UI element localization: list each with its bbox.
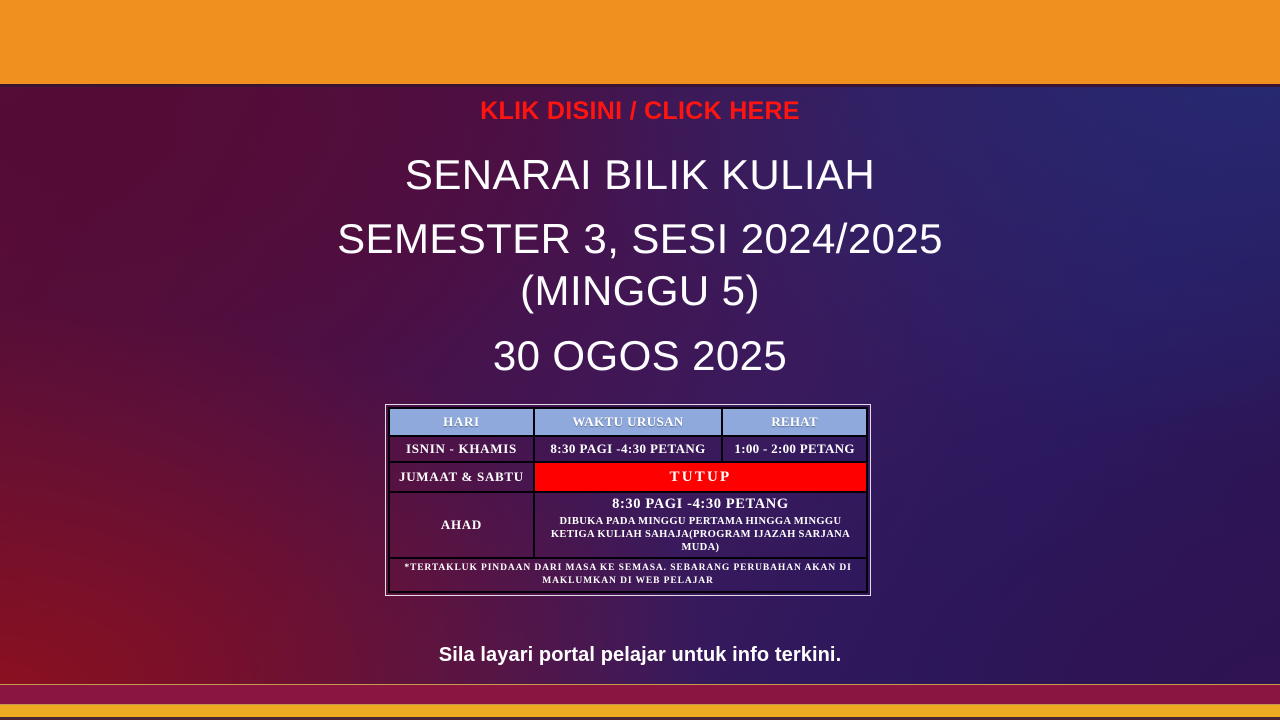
table-row: AHAD 8:30 PAGI -4:30 PETANG DIBUKA PADA … xyxy=(389,492,867,558)
heading-line-1: SENARAI BILIK KULIAH xyxy=(160,147,1120,203)
table-header-row: HARI WAKTU URUSAN REHAT xyxy=(389,408,867,436)
table-row: ISNIN - KHAMIS 8:30 PAGI -4:30 PETANG 1:… xyxy=(389,436,867,462)
sunday-hours: 8:30 PAGI -4:30 PETANG xyxy=(537,496,864,513)
column-header-hari: HARI xyxy=(389,408,534,436)
cell-hours-sunday: 8:30 PAGI -4:30 PETANG DIBUKA PADA MINGG… xyxy=(534,492,867,558)
slide-canvas: UTM UNIVERSITI TEKNOLOGI MALAYSIA School… xyxy=(0,0,1280,720)
sunday-note: DIBUKA PADA MINGGU PERTAMA HINGGA MINGGU… xyxy=(537,515,864,554)
header-underline xyxy=(0,84,1280,87)
heading-line-4: 30 OGOS 2025 xyxy=(160,329,1120,383)
bottom-note: Sila layari portal pelajar untuk info te… xyxy=(0,644,1280,667)
schedule-table: HARI WAKTU URUSAN REHAT ISNIN - KHAMIS 8… xyxy=(388,407,868,593)
footer-stripe-maroon xyxy=(0,684,1280,705)
heading-line-2: SEMESTER 3, SESI 2024/2025 xyxy=(160,213,1120,265)
status-badge-closed: TUTUP xyxy=(534,462,867,492)
column-header-waktu-urusan: WAKTU URUSAN xyxy=(534,408,722,436)
cell-day-weekday: ISNIN - KHAMIS xyxy=(389,436,534,462)
click-here-link[interactable]: KLIK DISINI / CLICK HERE xyxy=(0,97,1280,126)
schedule-table-container: HARI WAKTU URUSAN REHAT ISNIN - KHAMIS 8… xyxy=(385,404,871,596)
slide-headings: SENARAI BILIK KULIAH SEMESTER 3, SESI 20… xyxy=(160,147,1120,383)
table-row: JUMAAT & SABTU TUTUP xyxy=(389,462,867,492)
page-header xyxy=(0,0,1280,84)
table-footnote-row: *TERTAKLUK PINDAAN DARI MASA KE SEMASA. … xyxy=(389,558,867,592)
heading-line-3: (MINGGU 5) xyxy=(160,265,1120,317)
footer-stripe-gold xyxy=(0,705,1280,717)
cell-day-sunday: AHAD xyxy=(389,492,534,558)
cell-break-weekday: 1:00 - 2:00 PETANG xyxy=(722,436,867,462)
cell-day-friday-saturday: JUMAAT & SABTU xyxy=(389,462,534,492)
column-header-rehat: REHAT xyxy=(722,408,867,436)
table-footnote: *TERTAKLUK PINDAAN DARI MASA KE SEMASA. … xyxy=(389,558,867,592)
cell-hours-weekday: 8:30 PAGI -4:30 PETANG xyxy=(534,436,722,462)
